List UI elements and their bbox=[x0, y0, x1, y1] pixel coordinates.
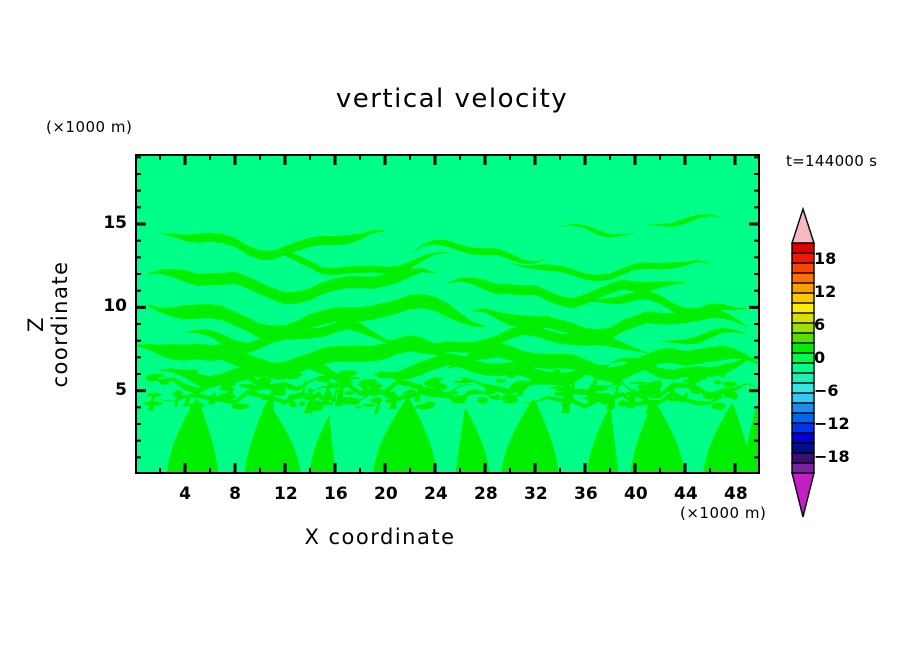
colorbar-band bbox=[792, 403, 814, 413]
colorbar-band bbox=[792, 333, 814, 343]
y-axis-title: Z coordinate bbox=[24, 249, 72, 399]
colorbar-over-cap bbox=[792, 209, 814, 243]
x-tick-label: 12 bbox=[274, 484, 296, 504]
x-tick-label: 32 bbox=[524, 484, 546, 504]
colorbar-band bbox=[792, 243, 814, 253]
colorbar-band bbox=[792, 423, 814, 433]
colorbar-band bbox=[792, 453, 814, 463]
colorbar-tick-label: −6 bbox=[814, 381, 839, 400]
colorbar-band bbox=[792, 293, 814, 303]
x-axis-units-label: (×1000 m) bbox=[680, 504, 766, 522]
x-tick-label: 48 bbox=[724, 484, 746, 504]
x-tick-label: 28 bbox=[474, 484, 496, 504]
colorbar-band bbox=[792, 343, 814, 353]
colorbar-under-cap bbox=[792, 473, 814, 517]
colorbar-band bbox=[792, 353, 814, 363]
contour-field bbox=[135, 154, 760, 474]
x-tick-label: 40 bbox=[624, 484, 646, 504]
colorbar-tick-label: 12 bbox=[814, 282, 836, 301]
y-tick-label: 10 bbox=[99, 296, 127, 316]
x-axis-title: X coordinate bbox=[0, 525, 760, 549]
colorbar-band bbox=[792, 373, 814, 383]
x-tick-label: 24 bbox=[424, 484, 446, 504]
colorbar-tick-label: −18 bbox=[814, 447, 850, 466]
x-tick-label: 20 bbox=[374, 484, 396, 504]
colorbar-band bbox=[792, 303, 814, 313]
y-tick-label: 5 bbox=[99, 380, 127, 400]
colorbar-band bbox=[792, 363, 814, 373]
colorbar-tick-label: 6 bbox=[814, 315, 825, 334]
colorbar-band bbox=[792, 463, 814, 473]
colorbar-band bbox=[792, 393, 814, 403]
colorbar-tick-label: 0 bbox=[814, 348, 825, 367]
x-tick-label: 36 bbox=[574, 484, 596, 504]
colorbar-band bbox=[792, 253, 814, 263]
x-tick-label: 44 bbox=[674, 484, 696, 504]
colorbar-band bbox=[792, 263, 814, 273]
colorbar-band bbox=[792, 273, 814, 283]
colorbar-tick-label: −12 bbox=[814, 414, 850, 433]
colorbar-band bbox=[792, 433, 814, 443]
colorbar-band bbox=[792, 313, 814, 323]
y-axis-units-label: (×1000 m) bbox=[46, 118, 132, 136]
x-tick-label: 8 bbox=[224, 484, 246, 504]
colorbar: 181260−6−12−18 bbox=[778, 205, 898, 525]
time-annotation: t=144000 s bbox=[786, 152, 877, 170]
colorbar-band bbox=[792, 383, 814, 393]
contour-plot-area: 481216202428323640444851015 bbox=[135, 154, 760, 474]
colorbar-band bbox=[792, 413, 814, 423]
colorbar-tick-label: 18 bbox=[814, 249, 836, 268]
colorbar-band bbox=[792, 443, 814, 453]
y-tick-label: 15 bbox=[99, 213, 127, 233]
x-tick-label: 16 bbox=[324, 484, 346, 504]
colorbar-band bbox=[792, 323, 814, 333]
colorbar-swatches bbox=[778, 205, 818, 525]
colorbar-band bbox=[792, 283, 814, 293]
x-tick-label: 4 bbox=[174, 484, 196, 504]
page-title: vertical velocity bbox=[0, 84, 904, 114]
